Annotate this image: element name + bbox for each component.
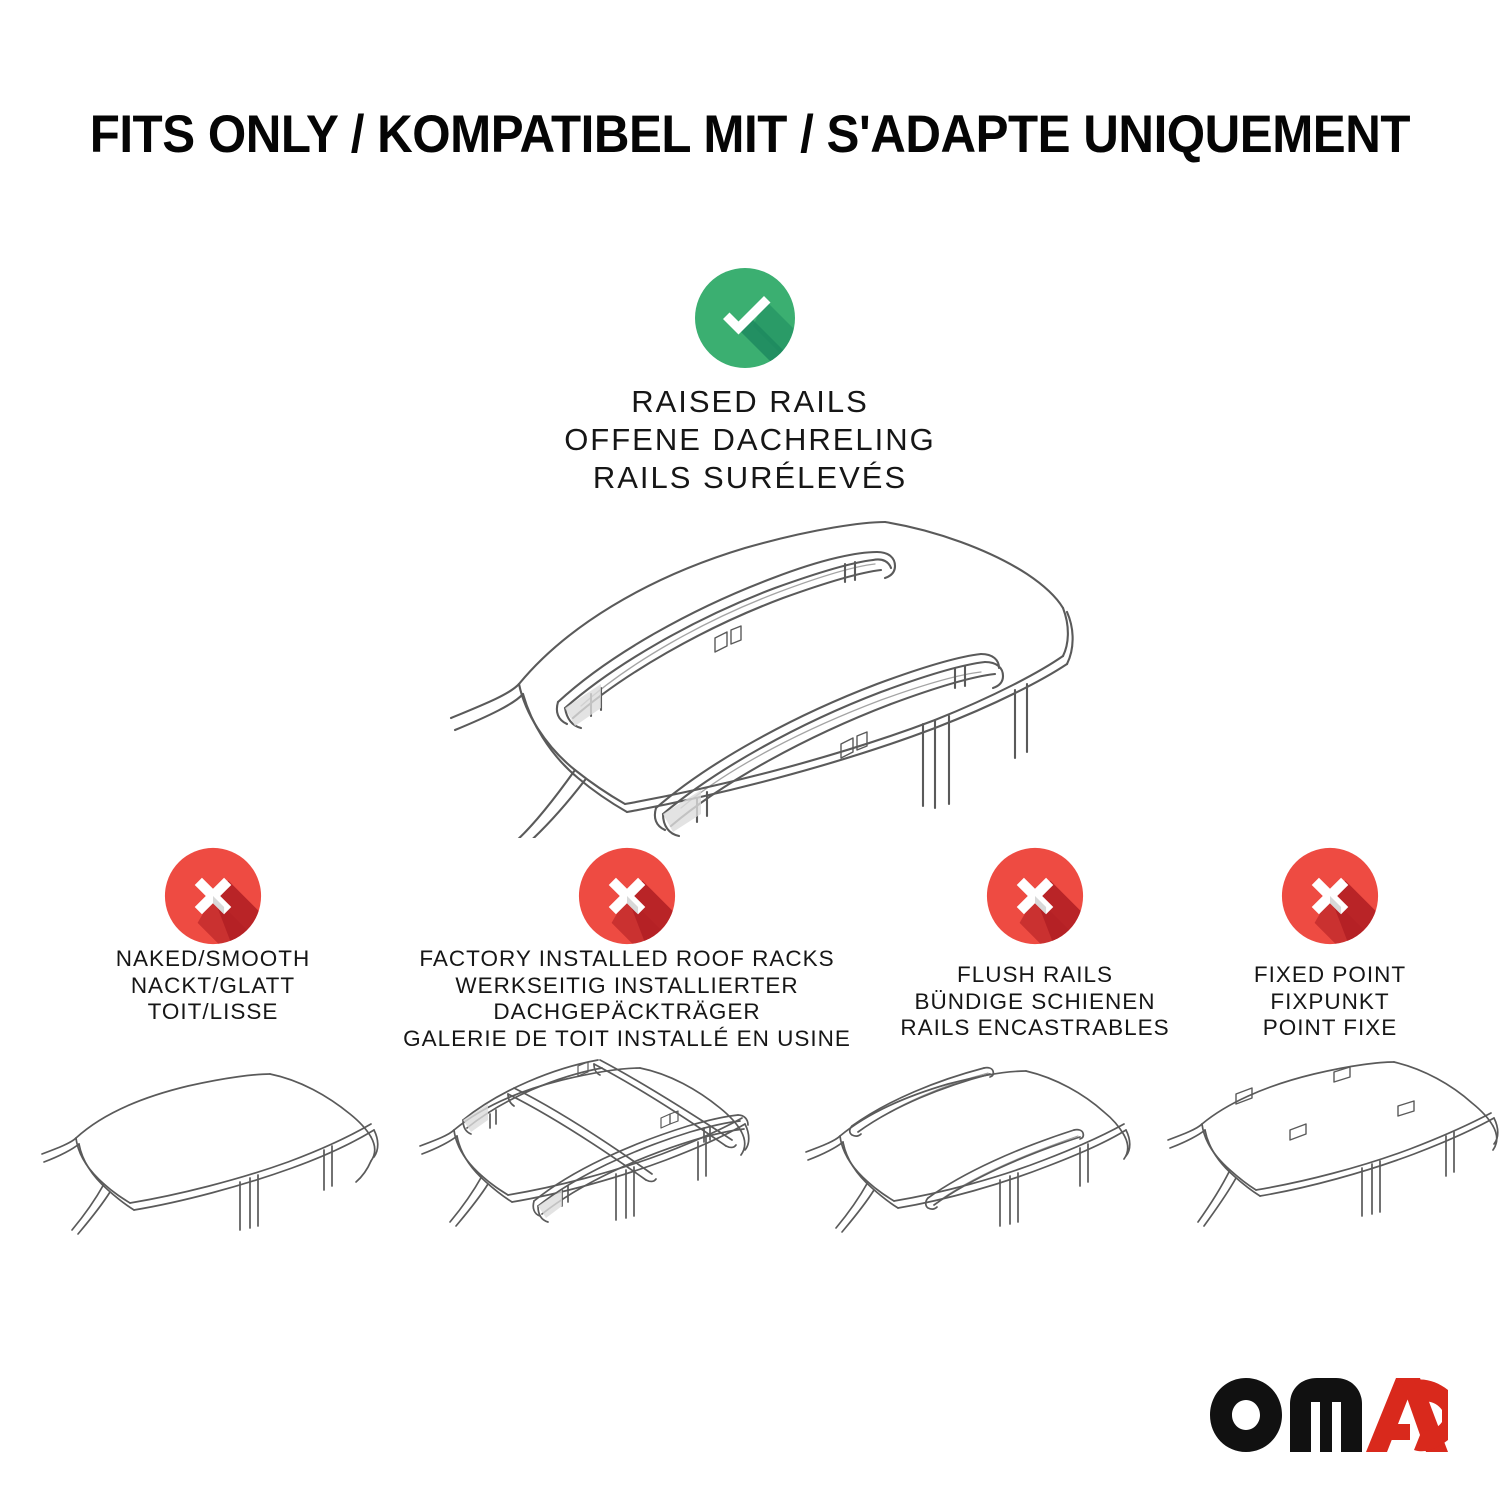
compatible-caption-line-3: RAILS SURÉLEVÉS xyxy=(250,459,1250,497)
cross-circle-icon xyxy=(163,846,263,946)
omac-logo xyxy=(1210,1378,1448,1452)
incompatible-caption-3-line-1: FLUSH RAILS xyxy=(855,962,1215,989)
incompatible-caption-3: FLUSH RAILS BÜNDIGE SCHIENEN RAILS ENCAS… xyxy=(855,962,1215,1042)
incompatible-caption-3-line-2: BÜNDIGE SCHIENEN xyxy=(855,989,1215,1016)
incompatible-caption-4: FIXED POINT FIXPUNKT POINT FIXE xyxy=(1185,962,1475,1042)
incompatible-caption-4-line-3: POINT FIXE xyxy=(1185,1015,1475,1042)
compatible-caption-line-1: RAISED RAILS xyxy=(250,383,1250,421)
car-roof-naked-smooth-illustration xyxy=(38,1058,383,1293)
incompatible-caption-2: FACTORY INSTALLED ROOF RACKS WERKSEITIG … xyxy=(377,946,877,1052)
car-roof-flush-rails-illustration xyxy=(788,1058,1133,1293)
check-circle-icon xyxy=(693,266,797,370)
cross-circle-icon xyxy=(985,846,1085,946)
car-roof-fixed-point-illustration xyxy=(1158,1058,1500,1293)
incompatible-caption-3-line-3: RAILS ENCASTRABLES xyxy=(855,1015,1215,1042)
incompatible-caption-1-line-1: NAKED/SMOOTH xyxy=(23,946,403,973)
cross-circle-icon xyxy=(577,846,677,946)
omac-logo-mark xyxy=(1210,1378,1448,1452)
incompatible-caption-1-line-2: NACKT/GLATT xyxy=(23,973,403,1000)
incompatible-caption-2-line-1: FACTORY INSTALLED ROOF RACKS xyxy=(377,946,877,973)
compatible-caption-line-2: OFFENE DACHRELING xyxy=(250,421,1250,459)
incompatible-caption-2-line-4: GALERIE DE TOIT INSTALLÉ EN USINE xyxy=(377,1026,877,1053)
car-roof-factory-roof-racks-illustration xyxy=(408,1058,753,1293)
incompatible-caption-2-line-3: DACHGEPÄCKTRÄGER xyxy=(377,999,877,1026)
page-title: FITS ONLY / KOMPATIBEL MIT / S'ADAPTE UN… xyxy=(0,104,1500,165)
incompatible-caption-1-line-3: TOIT/LISSE xyxy=(23,999,403,1026)
incompatible-caption-4-line-2: FIXPUNKT xyxy=(1185,989,1475,1016)
compatible-caption: RAISED RAILS OFFENE DACHRELING RAILS SUR… xyxy=(250,383,1250,497)
car-roof-raised-rails-illustration xyxy=(415,508,1085,838)
cross-circle-icon xyxy=(1280,846,1380,946)
page-title-text: FITS ONLY / KOMPATIBEL MIT / S'ADAPTE UN… xyxy=(90,104,1410,165)
incompatible-caption-2-line-2: WERKSEITIG INSTALLIERTER xyxy=(377,973,877,1000)
incompatible-caption-4-line-1: FIXED POINT xyxy=(1185,962,1475,989)
incompatible-caption-1: NAKED/SMOOTH NACKT/GLATT TOIT/LISSE xyxy=(23,946,403,1026)
